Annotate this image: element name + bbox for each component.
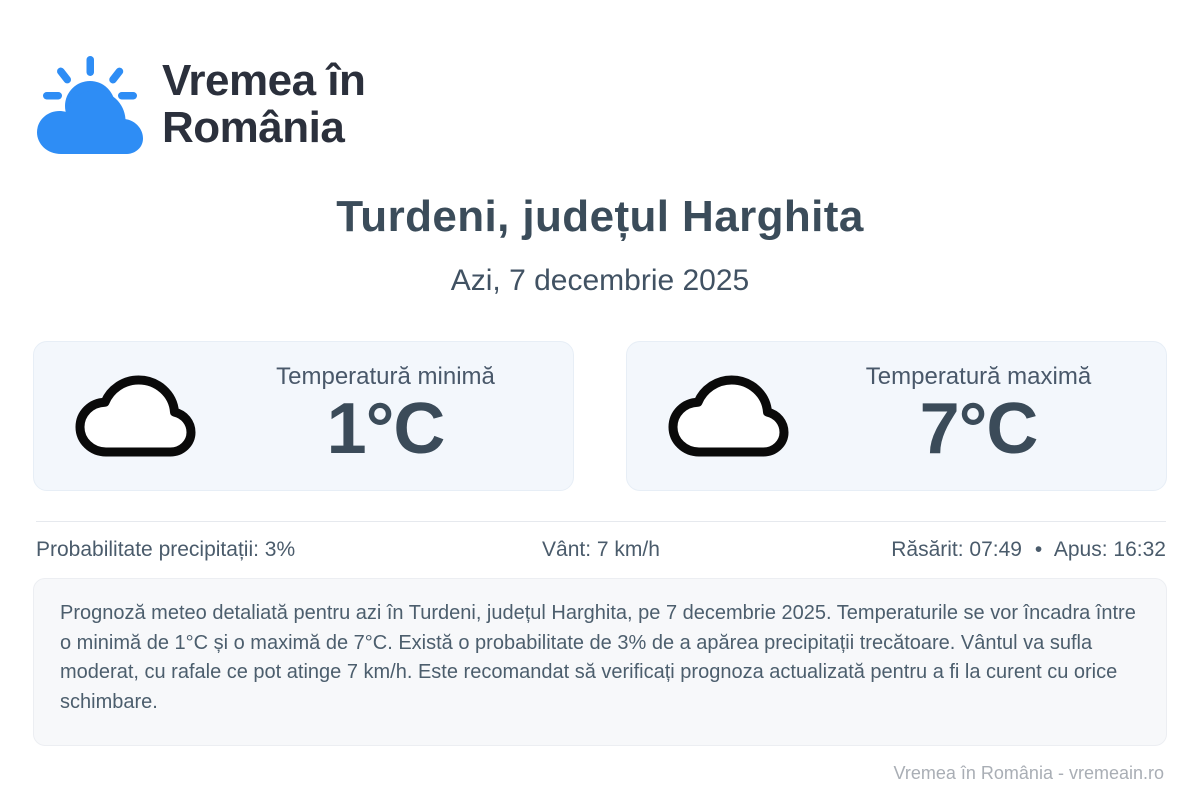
precipitation-stat: Probabilitate precipitații: 3% <box>36 538 409 562</box>
cloud-icon <box>74 372 198 460</box>
forecast-description-box: Prognoză meteo detaliată pentru azi în T… <box>33 578 1167 746</box>
footer-attribution: Vremea în România - vremeain.ro <box>894 763 1164 784</box>
temperature-min-card: Temperatură minimă 1°C <box>33 341 574 491</box>
stats-row: Probabilitate precipitații: 3% Vânt: 7 k… <box>36 538 1166 562</box>
page-title: Turdeni, județul Harghita <box>0 192 1200 242</box>
temperature-max-label: Temperatură maximă <box>866 364 1091 390</box>
sun-behind-cloud-icon <box>36 54 144 156</box>
cloud-icon <box>667 372 791 460</box>
temperature-min-label: Temperatură minimă <box>276 364 495 390</box>
forecast-description-text: Prognoză meteo detaliată pentru azi în T… <box>60 599 1140 717</box>
sunrise-value: Răsărit: 07:49 <box>891 538 1022 561</box>
wind-stat: Vânt: 7 km/h <box>409 538 793 562</box>
brand-name: Vremea în România <box>162 58 365 151</box>
site-brand[interactable]: Vremea în România <box>36 54 365 156</box>
temperature-max-value: 7°C <box>920 392 1038 468</box>
sunset-value: Apus: 16:32 <box>1054 538 1166 561</box>
sun-separator: • <box>1028 538 1049 561</box>
temperature-max-card: Temperatură maximă 7°C <box>626 341 1167 491</box>
weather-page: Vremea în România Turdeni, județul Hargh… <box>0 0 1200 800</box>
temperature-max-body: Temperatură maximă 7°C <box>805 364 1152 468</box>
stats-divider <box>36 521 1166 522</box>
temperature-cards: Temperatură minimă 1°C Temperatură maxim… <box>33 341 1167 491</box>
page-subtitle: Azi, 7 decembrie 2025 <box>0 264 1200 298</box>
temperature-min-body: Temperatură minimă 1°C <box>212 364 559 468</box>
temperature-min-value: 1°C <box>327 392 445 468</box>
sun-times-stat: Răsărit: 07:49 • Apus: 16:32 <box>793 538 1166 562</box>
